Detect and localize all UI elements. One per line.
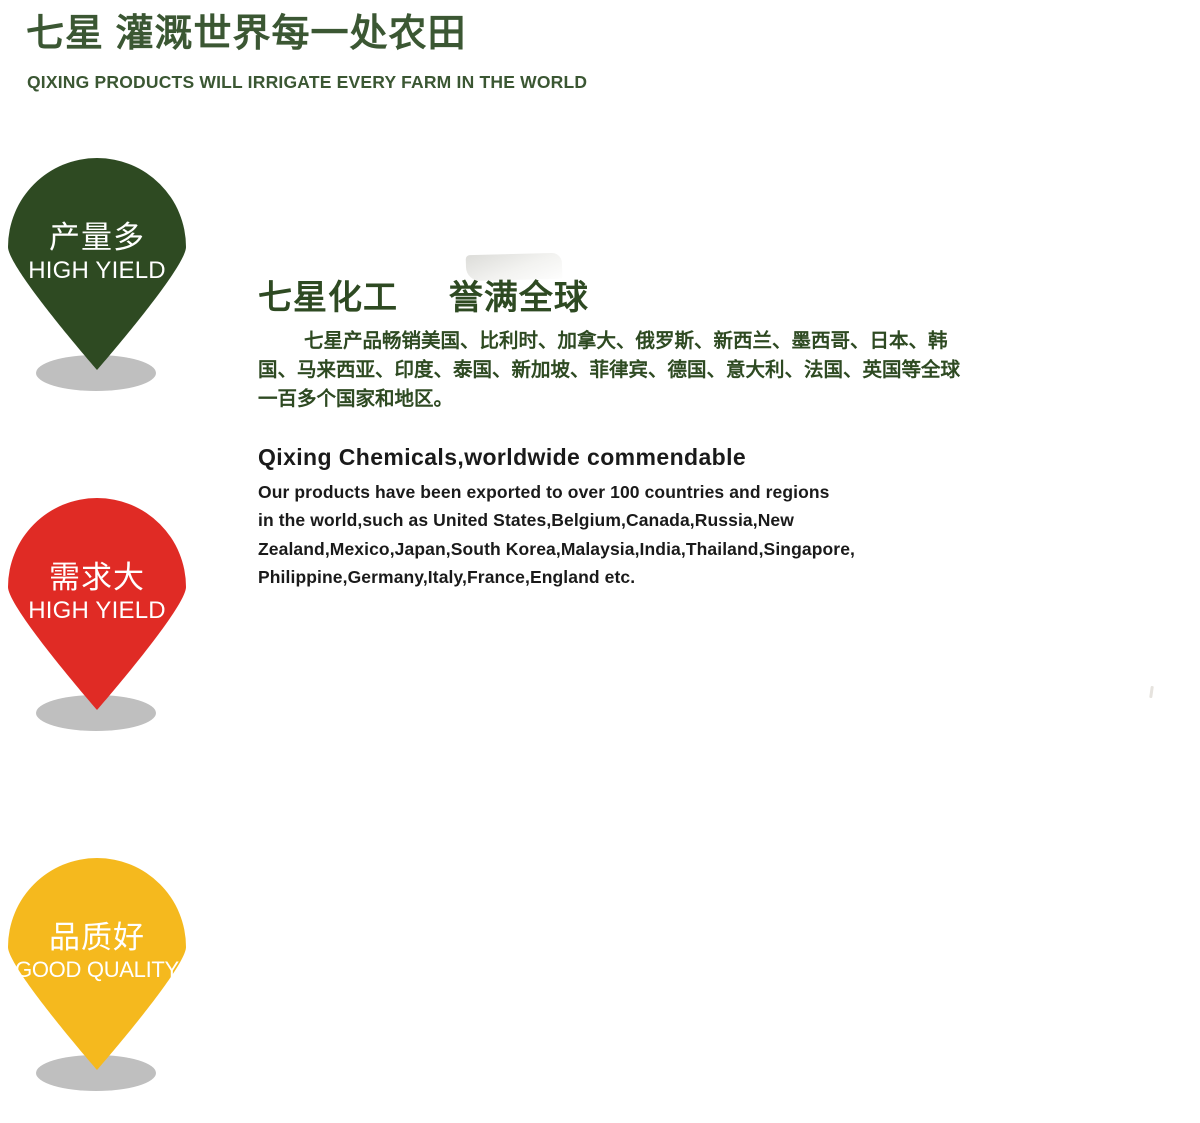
map-pin-icon xyxy=(8,498,186,710)
chinese-heading-part1: 七星化工 xyxy=(258,279,398,317)
banner-subtitle-en: QIXING PRODUCTS WILL IRRIGATE EVERY FARM… xyxy=(27,72,587,93)
pin-marker-high-yield[interactable]: 产量多 HIGH YIELD xyxy=(0,158,190,393)
pin-marker-good-quality[interactable]: 品质好 GOOD QUALITY xyxy=(0,858,190,1093)
english-paragraph: Our products have been exported to over … xyxy=(258,478,1018,591)
english-line-3: Zealand,Mexico,Japan,South Korea,Malaysi… xyxy=(258,535,1018,563)
english-line-1: Our products have been exported to over … xyxy=(258,478,1018,506)
english-content-block: Qixing Chemicals,worldwide commendable O… xyxy=(258,444,1018,591)
map-pin-icon xyxy=(8,158,186,370)
english-line-2: in the world,such as United States,Belgi… xyxy=(258,506,1018,534)
chinese-paragraph-text: 七星产品畅销美国、比利时、加拿大、俄罗斯、新西兰、墨西哥、日本、韩国、马来西亚、… xyxy=(258,330,960,410)
scan-artifact-speck xyxy=(1149,686,1154,698)
english-line-4: Philippine,Germany,Italy,France,England … xyxy=(258,563,1018,591)
english-heading: Qixing Chemicals,worldwide commendable xyxy=(258,444,1018,471)
chinese-heading: 七星化工 誉满全球 xyxy=(258,270,1018,319)
pin-marker-high-demand[interactable]: 需求大 HIGH YIELD xyxy=(0,498,190,733)
chinese-heading-part2: 誉满全球 xyxy=(449,279,589,317)
banner-title-cn: 七星 灌溉世界每一处农田 xyxy=(26,14,467,56)
map-pin-icon xyxy=(8,858,186,1070)
chinese-content-block: 七星化工 誉满全球 七星产品畅销美国、比利时、加拿大、俄罗斯、新西兰、墨西哥、日… xyxy=(258,270,1018,414)
chinese-paragraph: 七星产品畅销美国、比利时、加拿大、俄罗斯、新西兰、墨西哥、日本、韩国、马来西亚、… xyxy=(258,327,978,414)
